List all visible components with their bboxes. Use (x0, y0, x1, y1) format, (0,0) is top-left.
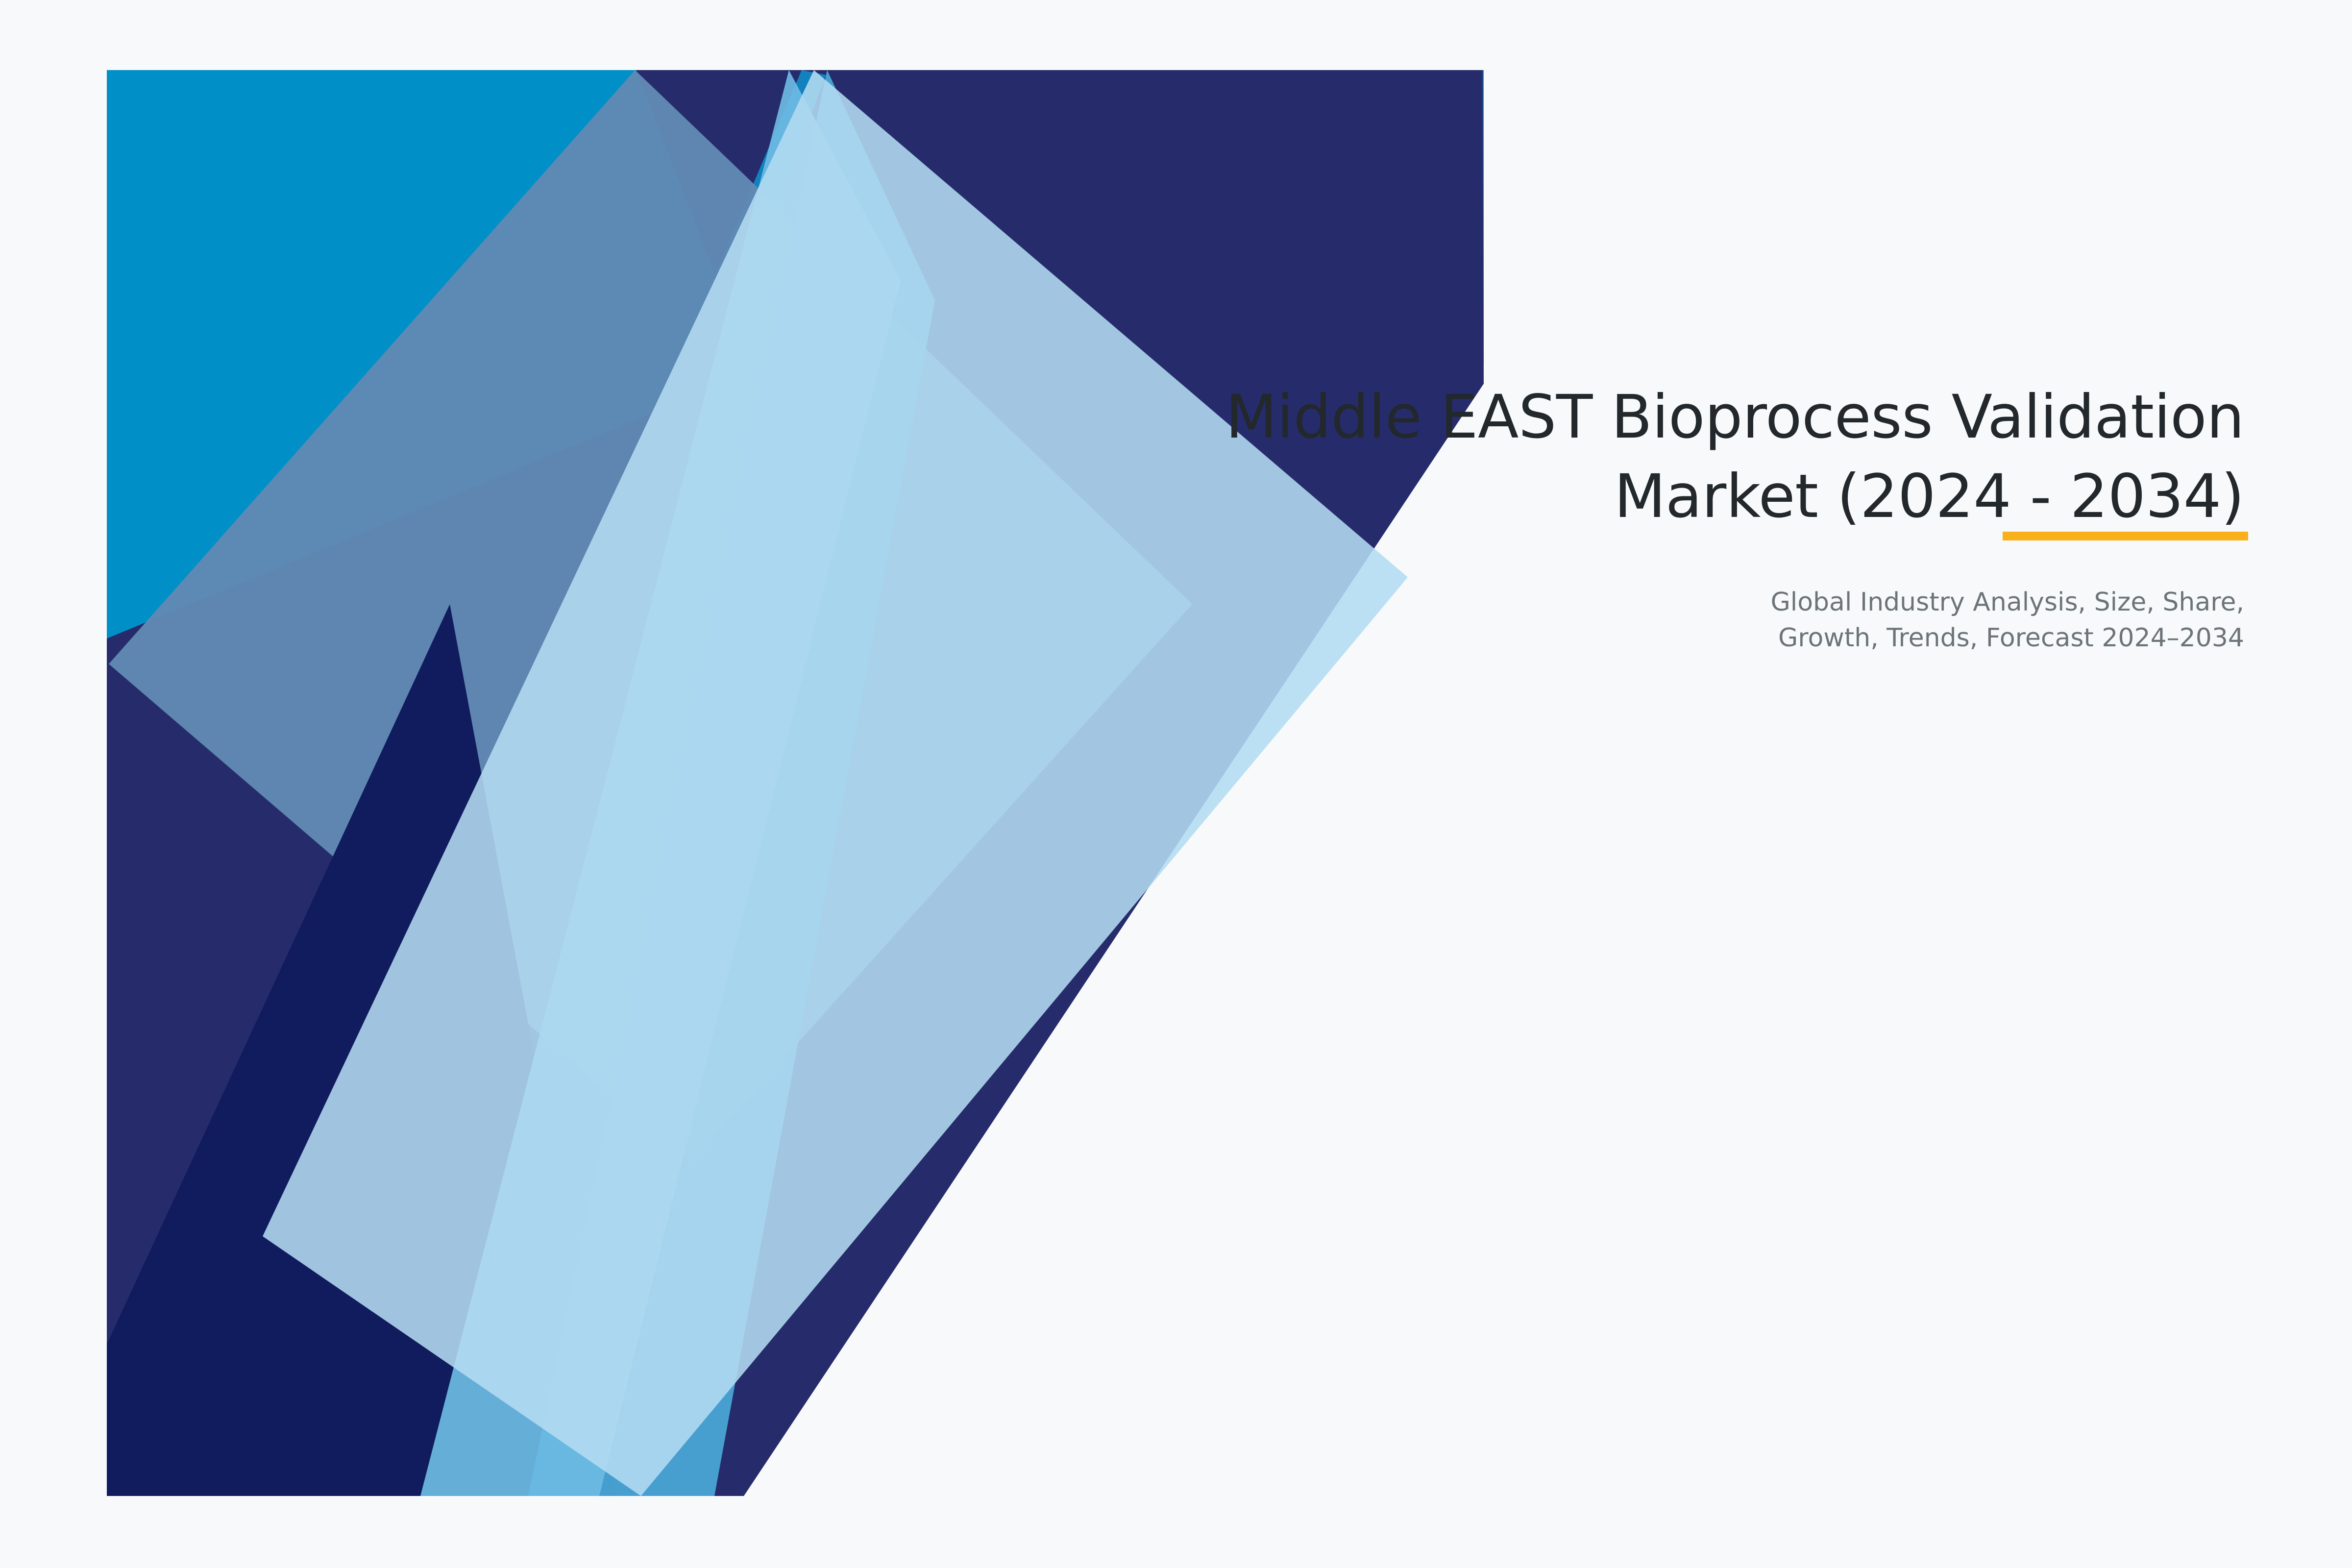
page-subtitle: Global Industry Analysis, Size, Share, G… (931, 537, 2244, 657)
page-title: Middle EAST Bioprocess Validation Market… (931, 377, 2244, 537)
report-cover-page: Middle EAST Bioprocess Validation Market… (0, 0, 2352, 1568)
cover-text-block: Middle EAST Bioprocess Validation Market… (931, 377, 2244, 657)
abstract-geometric-cover-graphic (107, 70, 1484, 1496)
title-wrapper: Middle EAST Bioprocess Validation Market… (931, 377, 2244, 537)
